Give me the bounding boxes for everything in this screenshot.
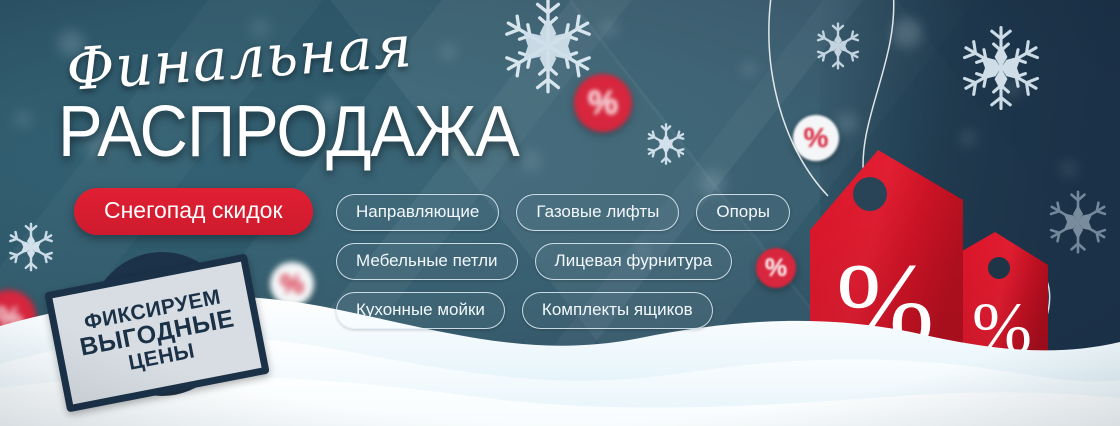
promo-banner: % % % % % %: [0, 0, 1120, 426]
vignette-overlay: [0, 0, 1120, 426]
